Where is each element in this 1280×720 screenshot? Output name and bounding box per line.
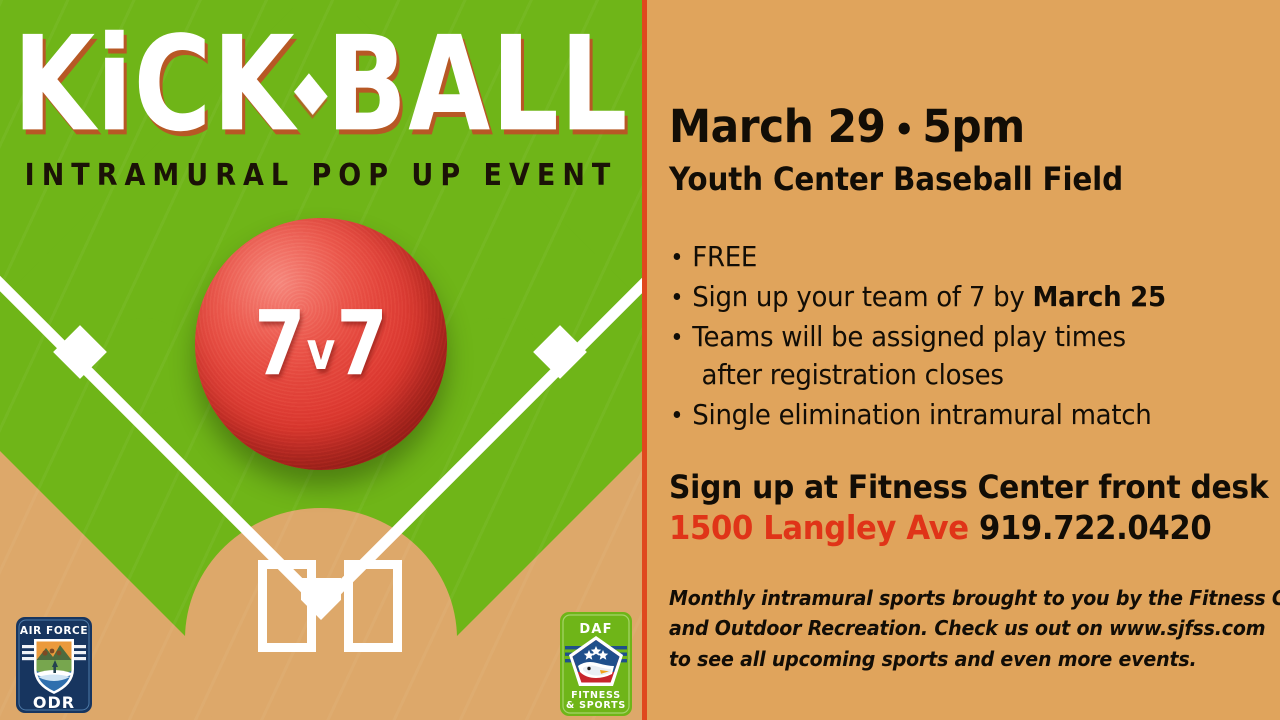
list-item: Teams will be assigned play timesafter r… — [669, 318, 1227, 392]
subtitle: INTRAMURAL POP UP EVENT — [0, 158, 642, 193]
event-details-list: FREE Sign up your team of 7 by March 25 … — [669, 238, 1269, 436]
team-size-right: 7 — [336, 292, 388, 395]
title-part-one: KiCK — [13, 7, 296, 161]
svg-text:ODR: ODR — [33, 693, 75, 712]
versus-label: v — [307, 321, 336, 382]
contact-line: 1500 Langley Ave919.722.0420 — [669, 508, 1211, 547]
svg-text:DAF: DAF — [579, 622, 612, 637]
bullet-text: Single elimination intramural match — [692, 398, 1151, 431]
kickball-graphic: 7v7 — [195, 218, 447, 470]
street-address: 1500 Langley Ave — [669, 508, 969, 547]
list-item: FREE — [669, 238, 1227, 275]
event-date: March 29 — [669, 100, 886, 153]
panel-divider — [642, 0, 647, 720]
phone-number: 919.722.0420 — [979, 508, 1211, 547]
event-time: 5pm — [922, 100, 1024, 153]
footnote-line: and Outdoor Recreation. Check us out on … — [669, 613, 1239, 643]
signup-instruction: Sign up at Fitness Center front desk — [669, 468, 1268, 506]
diamond-icon — [294, 73, 328, 115]
details-panel: March 29•5pm Youth Center Baseball Field… — [647, 0, 1280, 720]
title-part-two: BALL — [327, 7, 629, 161]
daf-logo-svg: DAF FITNESS & SPORTS — [556, 608, 636, 720]
svg-text:AIR FORCE: AIR FORCE — [20, 625, 88, 637]
bullet-text: Teams will be assigned play times — [692, 320, 1126, 353]
ball-format-label: 7v7 — [195, 218, 447, 470]
list-item: Single elimination intramural match — [669, 396, 1227, 433]
right-batters-box — [344, 560, 402, 652]
page-title: KiCKBALL — [13, 18, 629, 149]
event-headline: March 29•5pm — [669, 100, 1025, 153]
bullet-text-continued: after registration closes — [692, 356, 1227, 393]
footnote-line: to see all upcoming sports and even more… — [669, 644, 1239, 674]
ballfield-panel: KiCKBALL INTRAMURAL POP UP EVENT 7v7 AIR… — [0, 0, 642, 720]
team-size-left: 7 — [254, 292, 306, 395]
list-item: Sign up your team of 7 by March 25 — [669, 278, 1227, 315]
headline-separator: • — [894, 110, 914, 150]
air-force-odr-logo: AIR FORCE ODR — [8, 615, 100, 715]
bullet-deadline: March 25 — [1032, 280, 1165, 313]
bullet-text: Sign up your team of 7 by — [692, 280, 1032, 313]
odr-logo-svg: AIR FORCE ODR — [8, 615, 100, 715]
kickball-event-flyer: KiCKBALL INTRAMURAL POP UP EVENT 7v7 AIR… — [0, 0, 1280, 720]
footnote: Monthly intramural sports brought to you… — [669, 583, 1239, 674]
footnote-line: Monthly intramural sports brought to you… — [669, 583, 1239, 613]
title-block: KiCKBALL — [0, 32, 642, 136]
daf-fitness-sports-logo: DAF FITNESS & SPORTS — [556, 608, 636, 720]
bullet-text: FREE — [692, 240, 757, 273]
svg-text:& SPORTS: & SPORTS — [566, 700, 626, 711]
event-venue: Youth Center Baseball Field — [669, 160, 1123, 198]
